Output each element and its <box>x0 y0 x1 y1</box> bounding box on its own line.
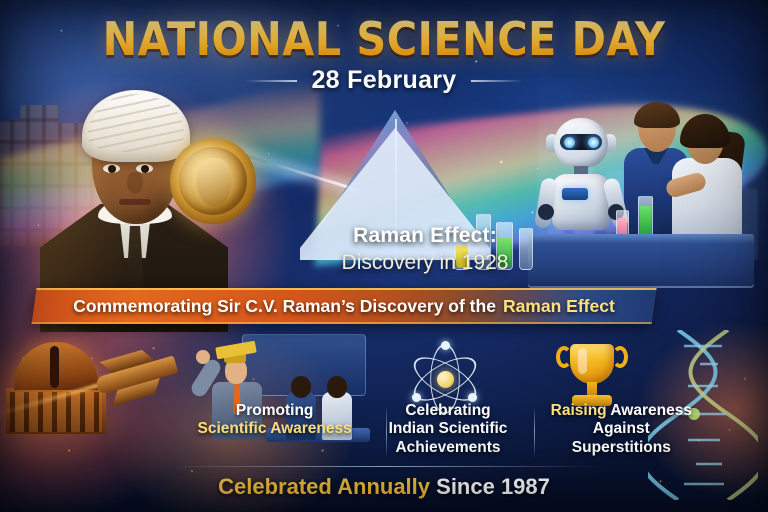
pillar-3-word-raising: Raising <box>551 402 607 419</box>
pillar-2-line-2: Indian Scientific <box>369 420 526 438</box>
trophy-handle-right <box>612 346 628 368</box>
observatory-slit <box>50 346 59 388</box>
pillar-3-line-1: Raising Awareness <box>543 402 700 420</box>
medal-portrait-relief <box>196 158 232 206</box>
trophy-stem <box>587 382 597 396</box>
atom-electron-2 <box>412 393 421 402</box>
date-rule-left <box>245 80 297 82</box>
date-row: 28 February <box>0 66 768 95</box>
robot-chest-panel <box>562 188 588 200</box>
footer-divider <box>168 466 600 467</box>
raman-caption-line1: Raman Effect: <box>300 224 550 248</box>
student-girl <box>670 114 746 244</box>
pillar-3-line-2: Against Superstitions <box>543 420 700 457</box>
date-rule-right <box>471 80 523 82</box>
portrait-mouth <box>119 199 151 205</box>
test-tube-green <box>638 196 653 238</box>
robot-eye-right <box>588 137 599 148</box>
teacher-hand <box>196 350 210 364</box>
ribbon-text-part1: Commemorating Sir C.V. Raman’s Discovery… <box>73 296 496 317</box>
trophy-highlight <box>578 348 587 374</box>
pillar-1-line-1: Promoting <box>196 402 353 420</box>
liquid-green <box>640 206 651 236</box>
date-label: 28 February <box>311 66 456 95</box>
atom-electron-3 <box>468 393 477 402</box>
pillars-row: Promoting Scientific Awareness Celebrati… <box>188 402 708 464</box>
robot-eye-left <box>564 137 575 148</box>
pillar-promoting-scientific-awareness: Promoting Scientific Awareness <box>188 402 361 464</box>
pillar-1-line-2: Scientific Awareness <box>196 420 353 438</box>
pillar-2-line-3: Achievements <box>369 439 526 457</box>
page-title: NATIONAL SCIENCE DAY <box>38 16 729 62</box>
classroom-student-a-head <box>291 376 311 398</box>
portrait-nose <box>127 172 143 194</box>
girl-hair <box>680 114 730 148</box>
national-science-day-poster: NATIONAL SCIENCE DAY 28 February Raman E… <box>0 0 768 512</box>
raman-caption-line2: Discovery in 1928 <box>300 251 550 275</box>
classroom-student-b-head <box>327 376 347 398</box>
footer-white-text: Since 1987 <box>436 474 550 499</box>
atom-electron-1 <box>441 341 450 350</box>
pillar-3-word-awareness: Awareness <box>610 402 692 419</box>
ribbon-text-part2: Raman Effect <box>503 296 615 317</box>
footer-text: Celebrated Annually Since 1987 <box>0 474 768 500</box>
footer-gold-text: Celebrated Annually <box>218 474 430 499</box>
atom-nucleus <box>437 371 454 388</box>
pillar-celebrating-indian-scientific-achievements: Celebrating Indian Scientific Achievemen… <box>361 402 534 464</box>
trophy-cup <box>570 344 614 384</box>
raman-effect-caption: Raman Effect: Discovery in 1928 <box>300 224 550 275</box>
pillar-2-line-1: Celebrating <box>369 402 526 420</box>
portrait-eye-left <box>103 164 120 173</box>
pillar-raising-awareness-against-superstitions: Raising Awareness Against Superstitions <box>535 402 708 464</box>
nobel-medal-icon <box>170 138 256 224</box>
commemoration-ribbon-text: Commemorating Sir C.V. Raman’s Discovery… <box>34 288 654 324</box>
